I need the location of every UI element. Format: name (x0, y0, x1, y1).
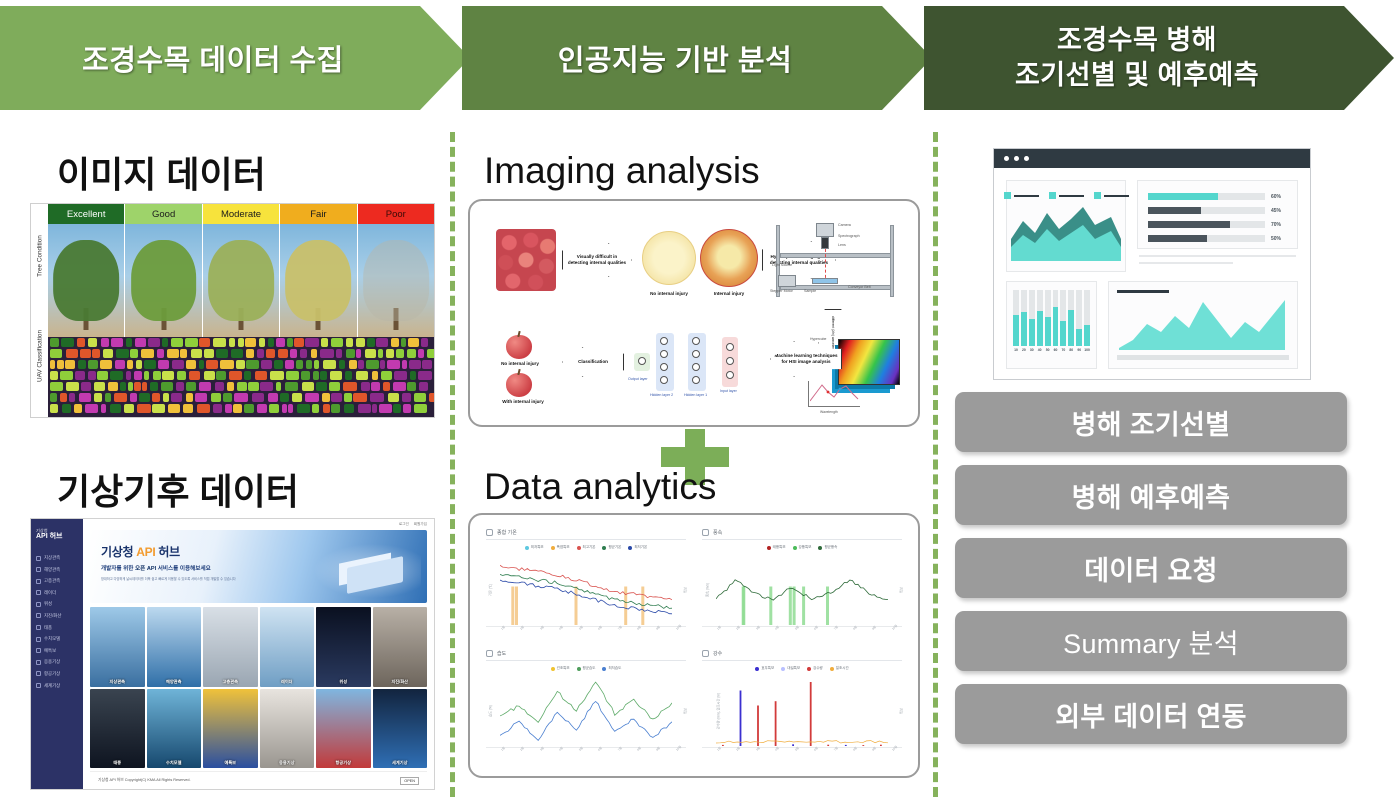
legend-swatch (807, 667, 811, 671)
column-bar-fill (1021, 312, 1027, 346)
nn-node (726, 343, 734, 351)
uav-cell (61, 338, 74, 347)
legend-item[interactable]: 최저습도 (602, 666, 621, 671)
weather-site-topbar[interactable]: 로그인 회원가입 (83, 519, 434, 528)
umbrella-icon (702, 650, 709, 657)
uav-cell (285, 382, 298, 391)
weather-nav-item[interactable]: 해양관측 (36, 567, 78, 573)
uav-cell (268, 393, 278, 402)
legend-label: 건조특보 (557, 666, 570, 671)
weather-tile[interactable]: 위성 (316, 607, 371, 687)
uav-cell (142, 382, 147, 391)
column-axis-tick: 60 (1053, 348, 1059, 352)
uav-cell (276, 382, 281, 391)
weather-nav-label: 항공기상 (44, 671, 60, 677)
tree-photo (203, 224, 279, 337)
uav-cell (356, 371, 368, 380)
uav-cell (286, 371, 299, 380)
label-light-source: Light Source (772, 263, 792, 267)
nav-bullet-icon (36, 590, 41, 595)
uav-cell (172, 360, 184, 369)
label-hypercube: Hypercube (810, 337, 826, 341)
feature-button-2[interactable]: 병해 예후예측 (955, 465, 1347, 525)
uav-cell (199, 360, 204, 369)
uav-cell (305, 338, 319, 347)
caption-result-no-injury: No internal injury (480, 361, 560, 366)
uav-cell (204, 371, 215, 380)
legend-item[interactable]: 평균풍속 (818, 545, 837, 550)
chart-alert-band (624, 587, 627, 626)
uav-cell (157, 349, 164, 358)
chart-bar (827, 745, 829, 746)
uav-cell (81, 382, 91, 391)
chart-x-axis: 1월2월3월4월5월6월7월8월9월10월 (500, 748, 686, 761)
legend-item[interactable]: 호우특보 (755, 666, 774, 671)
legend-item[interactable]: 최저특보 (525, 545, 544, 550)
chart-y-axis-label: 풍속 (m/s) (705, 582, 710, 596)
feature-button-3[interactable]: 데이터 요청 (955, 538, 1347, 598)
uav-cell (323, 404, 330, 413)
rig-rail-upper (780, 253, 892, 258)
uav-cell (186, 360, 196, 369)
nn-node (660, 350, 668, 358)
uav-cell (148, 338, 160, 347)
label-camera: Camera (838, 223, 851, 227)
uav-cell (213, 404, 222, 413)
nav-bullet-icon (36, 602, 41, 607)
chevron-step-3-label: 조경수목 병해 조기선별 및 예후예측 (1015, 23, 1303, 92)
uav-cell (292, 393, 302, 402)
uav-cell (92, 349, 100, 358)
legend-item[interactable]: 일조시간 (830, 666, 849, 671)
column-axis-tick: 20 (1021, 348, 1027, 352)
uav-cell (285, 360, 294, 369)
rig-post-right (890, 225, 894, 297)
weather-nav-item[interactable]: 지진/화산 (36, 613, 78, 619)
chart-scrollbar[interactable] (1117, 355, 1289, 360)
tree-condition-axis: Tree Condition UAV Classification (31, 204, 48, 417)
uav-cell (401, 338, 406, 347)
progress-track (1148, 193, 1265, 200)
uav-cell (227, 382, 234, 391)
uav-row (48, 349, 434, 360)
uav-cell (50, 338, 59, 347)
uav-cell (305, 393, 319, 402)
tree-condition-panel: Tree Condition UAV Classification Excell… (30, 203, 435, 418)
weather-nav-item[interactable]: 지상관측 (36, 555, 78, 561)
uav-cell (215, 382, 224, 391)
chart-x-tick: 5월 (794, 746, 800, 752)
legend-swatch (628, 546, 632, 550)
chart-svg (500, 676, 672, 746)
legend-label: 강풍특보 (799, 545, 812, 550)
weather-tile[interactable]: 지진/화산 (373, 607, 428, 687)
legend-item[interactable]: 태풍특보 (767, 545, 786, 550)
uav-cell (246, 360, 259, 369)
uav-cell (358, 404, 371, 413)
analytics-chart-1: 종합 기온최저특보폭염특보최고기온평균기온최저기온기온 (℃)특보1월2월3월4… (486, 529, 686, 640)
weather-tile-label: 항공기상 (316, 760, 371, 766)
dashboard-progress-box: 60%45%70%50% (1137, 180, 1298, 249)
uav-cell (365, 349, 376, 358)
legend-swatch (525, 546, 529, 550)
window-dots-icon (994, 149, 1310, 168)
uav-cell (237, 382, 247, 391)
uav-cell (427, 349, 434, 358)
camera-box (816, 223, 834, 237)
tree-condition-label-fair: Fair (280, 204, 356, 224)
chevron-step-3[interactable]: 조경수목 병해 조기선별 및 예후예측 (924, 6, 1394, 110)
uav-cell (422, 360, 432, 369)
weather-nav-item[interactable]: 태풍 (36, 625, 78, 631)
uav-cell (255, 371, 267, 380)
weather-tile[interactable]: 응용기상 (260, 689, 315, 769)
weather-tile[interactable]: 태풍 (90, 689, 145, 769)
tree-condition-label-good: Good (125, 204, 201, 224)
weather-nav-label: 지진/화산 (44, 613, 61, 619)
progress-row: 60% (1148, 193, 1287, 200)
progress-percent-label: 60% (1271, 194, 1287, 200)
chart-header: 종합 기온 (486, 529, 686, 540)
uav-cell (57, 360, 64, 369)
feature-button-4[interactable]: Summary 분석 (955, 611, 1347, 671)
uav-cell (345, 371, 352, 380)
uav-cell (331, 338, 343, 347)
chart-svg (716, 676, 888, 746)
arrow-4-label: Machine learning techniques for HSI imag… (774, 353, 838, 365)
uav-cell (311, 349, 317, 358)
uav-cell (346, 338, 353, 347)
column-bar-fill (1060, 321, 1066, 346)
tree-condition-column: Fair (280, 204, 357, 337)
chart-x-tick: 7월 (833, 746, 839, 752)
uav-cell (50, 349, 62, 358)
uav-cell (418, 371, 432, 380)
weather-hero-title-part1: 기상청 (101, 545, 136, 559)
chevron-step-2[interactable]: 인공지능 기반 분석 (462, 6, 932, 110)
uav-cell (393, 404, 401, 413)
progress-fill (1148, 207, 1201, 214)
feature-button-5[interactable]: 외부 데이터 연동 (955, 684, 1347, 744)
label-sample: Sample (804, 289, 816, 293)
uav-cell (79, 393, 91, 402)
arrow-1-label: Visually difficult in detecting internal… (566, 254, 628, 266)
legend-item[interactable]: 대설특보 (781, 666, 800, 671)
chart-bar (880, 745, 882, 746)
chart-header: 풍속 (702, 529, 902, 540)
weather-tile[interactable]: 해양관측 (147, 607, 202, 687)
weather-nav-label: 수치모델 (44, 636, 60, 642)
analytics-chart-3: 습도건조특보평균습도최저습도습도 (%)특보1월2월3월4월5월6월7월8월9월… (486, 650, 686, 761)
uav-cell (421, 338, 428, 347)
uav-row (48, 360, 434, 371)
caption-no-internal-injury: No internal injury (634, 291, 704, 296)
chart-title: 습도 (497, 650, 506, 657)
chart-legend: 최저특보폭염특보최고기온평균기온최저기온 (486, 545, 686, 550)
weather-tile-label: 수치모델 (147, 760, 202, 766)
weather-tile-label: 레이더 (260, 679, 315, 685)
weather-login-link[interactable]: 로그인 (399, 522, 409, 528)
weather-tile[interactable]: 세계기상 (373, 689, 428, 769)
uav-cell (50, 360, 55, 369)
chart-series-line (500, 565, 672, 600)
axis-label-uav-classification: UAV Classification (36, 330, 43, 382)
uav-cell (144, 360, 156, 369)
weather-tile-grid[interactable]: 지상관측해양관측고층관측레이더위성지진/화산태풍수치모델예특보응용기상항공기상세… (90, 607, 427, 768)
legend-item[interactable]: 강풍특보 (793, 545, 812, 550)
uav-cell (371, 382, 380, 391)
weather-nav-item[interactable]: 레이더 (36, 590, 78, 596)
legend-swatch (577, 546, 581, 550)
chart-svg (716, 555, 888, 625)
progress-fill (1148, 221, 1230, 228)
weather-tile[interactable]: 항공기상 (316, 689, 371, 769)
uav-cell (288, 404, 293, 413)
legend-swatch (781, 667, 785, 671)
chart-alert-band (793, 587, 796, 626)
label-hidden-layer-1: Hidden layer 1 (684, 393, 707, 397)
tree-condition-column: Poor (358, 204, 434, 337)
weather-nav-item[interactable]: 응용기상 (36, 659, 78, 665)
nav-bullet-icon (36, 671, 41, 676)
weather-logo-main: API 허브 (36, 533, 63, 540)
legend-item[interactable]: 최고기온 (577, 545, 596, 550)
uav-cell (130, 349, 138, 358)
legend-item (1094, 192, 1129, 199)
nav-bullet-icon (36, 683, 41, 688)
uav-cell (356, 349, 361, 358)
weather-tile[interactable]: 수치모델 (147, 689, 202, 769)
label-output-layer: Output layer (628, 377, 648, 381)
uav-cell (141, 349, 154, 358)
tree-condition-label-excellent: Excellent (48, 204, 124, 224)
imaging-analysis-card: Visually difficult in detecting internal… (468, 199, 920, 427)
uav-cell (199, 382, 211, 391)
uav-cell (171, 338, 183, 347)
column-axis-tick: 100 (1084, 348, 1090, 352)
chart-alert-band (575, 587, 578, 626)
weather-nav-label: 지상관측 (44, 555, 60, 561)
uav-cell (294, 338, 304, 347)
legend-swatch (818, 546, 822, 550)
dashboard-text-placeholder (1137, 249, 1298, 264)
uav-cell (381, 371, 392, 380)
hyperspectral-imaging-rig: Camera Spectrograph Lens Light Source Sa… (774, 223, 902, 309)
uav-cell (74, 404, 82, 413)
weather-tile[interactable]: 예특보 (203, 689, 258, 769)
arrow-5-label: Classification (578, 359, 608, 365)
chart-alert-band (802, 587, 805, 626)
weather-hero-sub-a: 개발자를 위한 (101, 566, 135, 572)
weather-nav-item[interactable]: 세계기상 (36, 683, 78, 689)
uav-cell (162, 371, 174, 380)
legend-item[interactable]: 평균기온 (602, 545, 621, 550)
uav-cell (185, 338, 198, 347)
hypercube-stack (838, 339, 900, 385)
chart-x-axis: 1월2월3월4월5월6월7월8월9월10월 (716, 748, 902, 761)
legend-swatch (551, 546, 555, 550)
uav-cell (124, 404, 134, 413)
feature-button-1[interactable]: 병해 조기선별 (955, 392, 1347, 452)
weather-tile-label: 응용기상 (260, 760, 315, 766)
weather-nav-item[interactable]: 예특보 (36, 648, 78, 654)
chart-x-tick: 3월 (539, 746, 545, 752)
uav-cell (376, 338, 388, 347)
legend-item[interactable]: 강수량 (807, 666, 823, 671)
uav-cell (344, 393, 352, 402)
nn-node (692, 363, 700, 371)
uav-cell (343, 382, 357, 391)
uav-cell (301, 371, 310, 380)
chart-alert-band (742, 587, 745, 626)
uav-cell (128, 382, 133, 391)
chart-title: 강수 (713, 650, 722, 657)
uav-cell (231, 349, 243, 358)
uav-cell (320, 371, 327, 380)
uav-classification-map (48, 337, 434, 417)
rig-rail-lower (780, 285, 892, 290)
uav-cell (78, 360, 86, 369)
uav-cell (186, 393, 193, 402)
uav-cell (60, 393, 67, 402)
imaging-diagram: Visually difficult in detecting internal… (470, 201, 918, 425)
uav-cell (105, 393, 111, 402)
uav-row (48, 382, 434, 393)
uav-cell (296, 360, 303, 369)
uav-cell (186, 382, 196, 391)
weather-nav-item[interactable]: 고층관측 (36, 578, 78, 584)
uav-cell (316, 382, 327, 391)
nn-node (692, 337, 700, 345)
uav-cell (312, 404, 319, 413)
uav-cell (349, 360, 357, 369)
weather-tile[interactable]: 레이더 (260, 607, 315, 687)
uav-cell (300, 349, 307, 358)
weather-data-title: 기상기후 데이터 (57, 463, 299, 515)
column-bar-track (1013, 290, 1019, 346)
uav-cell (244, 404, 254, 413)
uav-cell (331, 393, 342, 402)
uav-cell (393, 382, 406, 391)
uav-cell (110, 371, 123, 380)
uav-cell (211, 393, 221, 402)
weather-tile[interactable]: 고층관측 (203, 607, 258, 687)
legend-label: 일조시간 (836, 666, 849, 671)
uav-cell (302, 382, 314, 391)
uav-cell (344, 404, 354, 413)
legend-item[interactable]: 폭염특보 (551, 545, 570, 550)
chart-bar (775, 701, 777, 746)
legend-label: 최고기온 (583, 545, 596, 550)
uav-cell (216, 349, 228, 358)
uav-cell (396, 349, 404, 358)
uav-cell (372, 371, 378, 380)
weather-nav-item[interactable]: 위성 (36, 601, 78, 607)
chart-header: 강수 (702, 650, 902, 661)
uav-cell (153, 371, 161, 380)
chart-x-tick: 7월 (617, 625, 623, 631)
legend-item[interactable]: 건조특보 (551, 666, 570, 671)
legend-item[interactable]: 평균습도 (577, 666, 596, 671)
uav-cell (234, 393, 248, 402)
uav-cell (137, 404, 151, 413)
dashboard-area-chart-box (1006, 180, 1126, 272)
legend-item[interactable]: 최저기온 (628, 545, 647, 550)
uav-cell (88, 360, 98, 369)
arrow-classification: Classification (562, 347, 624, 377)
uav-cell (386, 349, 394, 358)
weather-nav-item[interactable]: 수치모델 (36, 636, 78, 642)
progress-fill (1148, 235, 1207, 242)
progress-row: 50% (1148, 235, 1287, 242)
nn-node (660, 337, 668, 345)
chart-plot-area: 기온 (℃)특보 (486, 553, 686, 627)
column-bar-track (1076, 290, 1082, 346)
nn-node (726, 371, 734, 379)
neural-network-diagram: Output layer Hidden layer 2 Hidden layer… (638, 333, 758, 399)
chevron-step-1[interactable]: 조경수목 데이터 수집 (0, 6, 470, 110)
uav-cell (372, 404, 377, 413)
uav-cell (189, 371, 200, 380)
legend-label: 대설특보 (787, 666, 800, 671)
weather-nav-item[interactable]: 항공기상 (36, 671, 78, 677)
uav-cell (378, 349, 383, 358)
apple-slice-no-injury (642, 231, 696, 285)
uav-cell (50, 393, 57, 402)
uav-cell (88, 338, 97, 347)
column-bar-fill (1053, 307, 1059, 346)
spectral-curve-plot (808, 381, 860, 407)
uav-cell (269, 404, 279, 413)
chart-x-tick: 7월 (617, 746, 623, 752)
uav-cell (69, 393, 75, 402)
weather-tile[interactable]: 지상관측 (90, 607, 145, 687)
weather-signup-link[interactable]: 회원가입 (414, 522, 427, 528)
uav-cell (407, 382, 416, 391)
stepper-motor-box (778, 275, 796, 287)
legend-swatch (755, 667, 759, 671)
uav-cell (391, 338, 399, 347)
uav-cell (180, 349, 187, 358)
weather-site-nav[interactable]: 지상관측해양관측고층관측레이더위성지진/화산태풍수치모델예특보응용기상항공기상세… (36, 555, 78, 689)
uav-cell (110, 404, 121, 413)
column-axis-tick: 80 (1068, 348, 1074, 352)
uav-cell (379, 404, 392, 413)
uav-cell (380, 360, 385, 369)
uav-cell (245, 338, 256, 347)
column-axis-labels: 102030405060708090100 (1011, 346, 1092, 352)
uav-cell (394, 371, 407, 380)
weather-tile-label: 지진/화산 (373, 679, 428, 685)
column-axis-tick: 10 (1013, 348, 1019, 352)
uav-cell (387, 360, 400, 369)
legend-swatch (551, 667, 555, 671)
legend-swatch (602, 546, 606, 550)
uav-cell (204, 349, 214, 358)
chart-legend: 건조특보평균습도최저습도 (486, 666, 686, 671)
uav-cell (103, 349, 113, 358)
label-spectrograph: Spectrograph (838, 234, 860, 238)
chart-bar (845, 745, 847, 746)
uav-cell (161, 382, 173, 391)
uav-cell (50, 404, 58, 413)
dashboard-legend (1007, 181, 1125, 199)
chart-x-axis: 1월2월3월4월5월6월7월8월9월10월 (716, 627, 902, 640)
uav-cell (216, 371, 226, 380)
column-bar-fill (1084, 325, 1090, 346)
uav-cell (407, 349, 416, 358)
uav-cell (139, 393, 150, 402)
